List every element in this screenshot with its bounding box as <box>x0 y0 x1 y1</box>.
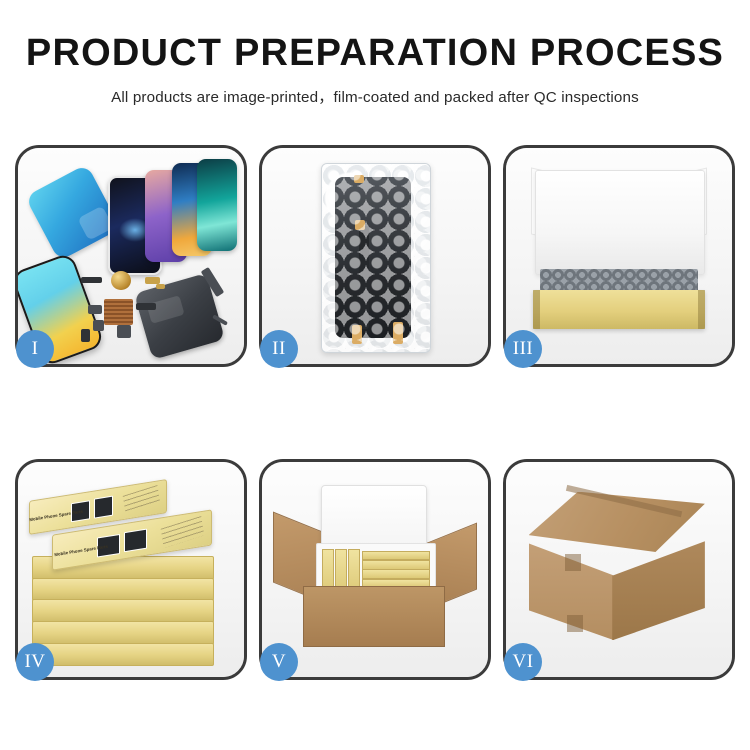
inner-box-5 <box>362 560 430 570</box>
product-preparation-infographic: PRODUCT PREPARATION PROCESS All products… <box>0 0 750 750</box>
part-speaker-icon <box>117 325 131 338</box>
screen-protector-film-icon <box>25 164 121 262</box>
stacked-box-4 <box>32 621 215 645</box>
white-foam-sheet-icon <box>535 170 704 275</box>
process-step-6: VI <box>503 459 735 681</box>
stacked-box-3 <box>32 599 215 623</box>
step-4-image: Mobile Phone Spare Parts Mobile Phone Sp… <box>18 462 244 678</box>
lid-phone-image-b2 <box>124 528 147 552</box>
process-step-2: II <box>259 145 491 367</box>
carton-tape-lower-icon <box>567 615 583 632</box>
part-gold-clip-icon <box>156 284 165 289</box>
step-5-image <box>262 462 488 678</box>
step-2-badge: II <box>260 330 298 368</box>
stacked-box-5 <box>32 643 215 667</box>
step-5-badge: V <box>260 643 298 681</box>
process-step-grid: I II <box>15 145 735 680</box>
bubble-texture-overlay <box>322 164 430 351</box>
lid-text-lines-b <box>161 516 205 548</box>
step-1-badge: I <box>16 330 54 368</box>
step-3-image <box>506 148 732 364</box>
part-gold-connector-icon <box>145 277 161 283</box>
carton-body-icon <box>303 586 445 646</box>
process-step-4: Mobile Phone Spare Parts Mobile Phone Sp… <box>15 459 247 681</box>
foam-lid-icon <box>321 485 427 552</box>
phone-teal-icon <box>197 159 238 252</box>
lid-phone-image-a2 <box>94 495 114 518</box>
logic-board-chip-icon <box>104 299 133 325</box>
step-3-badge: III <box>504 330 542 368</box>
step-2-image <box>262 148 488 364</box>
step-1-image <box>18 148 244 364</box>
lid-text-lines-a <box>123 485 161 514</box>
step-6-badge: VI <box>504 643 542 681</box>
inner-box-4 <box>362 551 430 561</box>
bubble-wrap-bag-icon <box>321 163 431 352</box>
process-step-1: I <box>15 145 247 367</box>
carton-tape-upper-icon <box>565 554 581 571</box>
yellow-box-base-icon <box>533 290 705 329</box>
stacked-box-2 <box>32 578 215 602</box>
page-subtitle: All products are image-printed，film-coat… <box>0 85 750 107</box>
part-flex-cable-icon <box>88 305 102 314</box>
part-bracket-icon <box>81 277 101 282</box>
inner-box-6 <box>362 569 430 579</box>
process-step-5: V <box>259 459 491 681</box>
process-step-3: III <box>503 145 735 367</box>
part-ribbon-icon <box>136 303 156 309</box>
step-6-image <box>506 462 732 678</box>
page-title: PRODUCT PREPARATION PROCESS <box>0 34 750 74</box>
part-camera-icon <box>81 329 90 342</box>
header: PRODUCT PREPARATION PROCESS All products… <box>0 0 750 107</box>
part-small-icon <box>93 320 104 331</box>
step-4-badge: IV <box>16 643 54 681</box>
vibration-motor-icon <box>111 271 131 290</box>
